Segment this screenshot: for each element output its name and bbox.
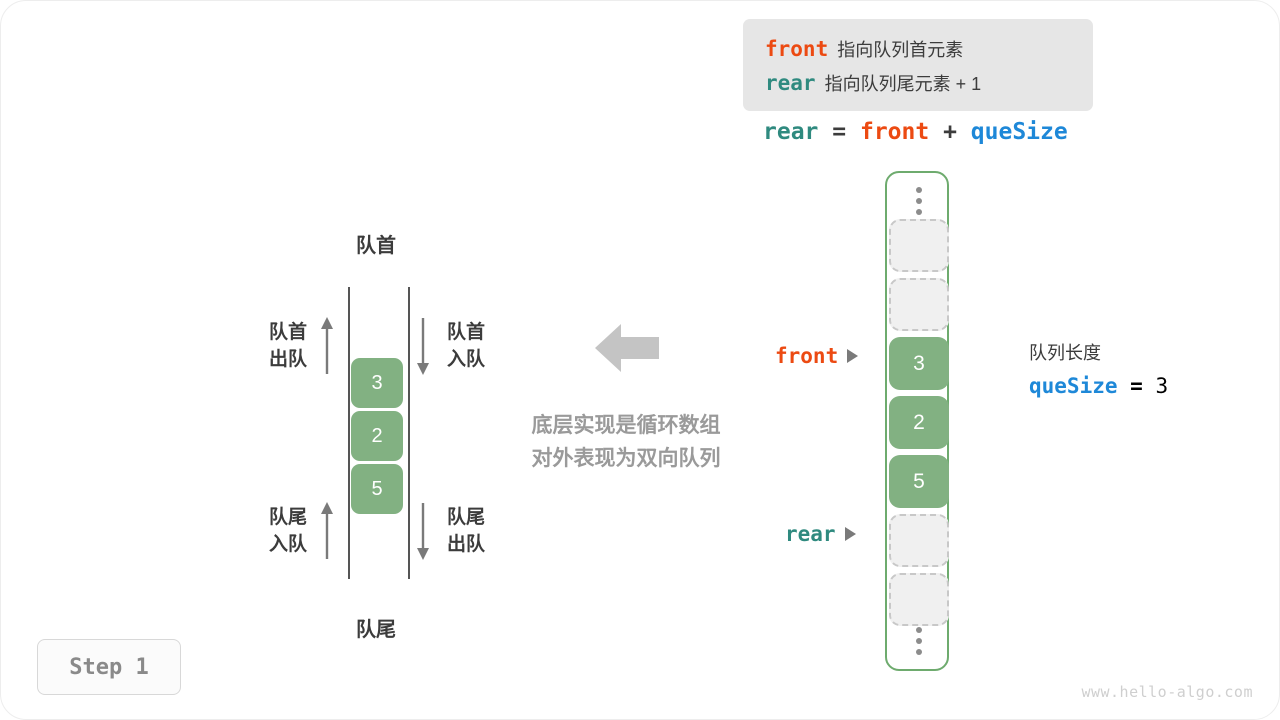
array-slot-2[interactable]: 3 bbox=[889, 337, 949, 390]
array-slot-3-value: 2 bbox=[913, 411, 925, 435]
pointer-rear-label: rear bbox=[785, 522, 836, 546]
diagram-canvas: front指向队列首元素 rear指向队列尾元素 + 1 rear = fron… bbox=[0, 0, 1280, 720]
legend-keyword-rear: rear bbox=[765, 71, 816, 95]
step-badge: Step 1 bbox=[37, 639, 181, 695]
deque-tail-label: 队尾 bbox=[316, 613, 436, 642]
legend-text-front: 指向队列首元素 bbox=[837, 40, 963, 60]
legend-line-rear: rear指向队列尾元素 + 1 bbox=[765, 66, 1093, 100]
legend-keyword-front: front bbox=[765, 37, 828, 61]
op-label-head-dequeue: 队首 出队 bbox=[227, 319, 307, 373]
op-label-head-dequeue-line2: 出队 bbox=[227, 346, 307, 373]
deque-cell-0[interactable]: 3 bbox=[351, 358, 403, 408]
arrow-up-tail-enqueue-icon bbox=[319, 502, 335, 560]
pointer-front: front bbox=[775, 344, 858, 368]
deque-rail-left bbox=[348, 287, 350, 579]
quesize-note: 队列长度 queSize = 3 bbox=[1029, 339, 1168, 402]
quesize-note-equals: = bbox=[1130, 374, 1143, 398]
deque-cell-0-value: 3 bbox=[371, 372, 382, 395]
center-caption-line1: 底层实现是循环数组 bbox=[503, 409, 749, 442]
left-arrow-icon bbox=[595, 323, 659, 373]
formula-term-quesize: queSize bbox=[971, 119, 1068, 145]
op-label-head-enqueue-line1: 队首 bbox=[447, 319, 485, 346]
array-slot-5[interactable] bbox=[889, 514, 949, 567]
arrow-down-head-enqueue-icon bbox=[415, 317, 431, 375]
deque-cell-2-value: 5 bbox=[371, 478, 382, 501]
array-slot-6[interactable] bbox=[889, 573, 949, 626]
op-label-head-dequeue-line1: 队首 bbox=[227, 319, 307, 346]
legend-text-rear: 指向队列尾元素 + 1 bbox=[825, 74, 982, 94]
quesize-note-var: queSize bbox=[1029, 374, 1118, 398]
ellipsis-top-icon bbox=[887, 187, 951, 215]
center-caption: 底层实现是循环数组 对外表现为双向队列 bbox=[503, 409, 749, 475]
array-slot-1[interactable] bbox=[889, 278, 949, 331]
quesize-note-expression: queSize = 3 bbox=[1029, 370, 1168, 402]
deque-cell-1[interactable]: 2 bbox=[351, 411, 403, 461]
pointer-rear: rear bbox=[785, 522, 856, 546]
formula-rear-equals: rear = front + queSize bbox=[763, 119, 1068, 145]
quesize-note-label: 队列长度 bbox=[1029, 339, 1168, 367]
op-label-tail-enqueue-line1: 队尾 bbox=[227, 504, 307, 531]
deque-cell-1-value: 2 bbox=[371, 425, 382, 448]
deque-rail-right bbox=[408, 287, 410, 579]
op-label-head-enqueue: 队首 入队 bbox=[447, 319, 485, 373]
op-label-tail-enqueue: 队尾 入队 bbox=[227, 504, 307, 558]
arrow-down-tail-dequeue-icon bbox=[415, 502, 431, 560]
op-label-tail-dequeue-line2: 出队 bbox=[447, 531, 485, 558]
op-label-head-enqueue-line2: 入队 bbox=[447, 346, 485, 373]
formula-operator-plus: + bbox=[943, 119, 957, 145]
deque-head-label: 队首 bbox=[316, 229, 436, 258]
legend-line-front: front指向队列首元素 bbox=[765, 32, 1093, 66]
pointer-rear-arrow-icon bbox=[845, 527, 856, 541]
pointer-front-label: front bbox=[775, 344, 838, 368]
array-slot-4-value: 5 bbox=[913, 470, 925, 494]
ellipsis-bottom-icon bbox=[887, 627, 951, 655]
legend-box: front指向队列首元素 rear指向队列尾元素 + 1 bbox=[743, 19, 1093, 111]
quesize-note-value: 3 bbox=[1155, 374, 1168, 398]
formula-term-front: front bbox=[860, 119, 929, 145]
center-caption-line2: 对外表现为双向队列 bbox=[503, 442, 749, 475]
pointer-front-arrow-icon bbox=[847, 349, 858, 363]
arrow-up-head-dequeue-icon bbox=[319, 317, 335, 375]
op-label-tail-enqueue-line2: 入队 bbox=[227, 531, 307, 558]
array-slot-2-value: 3 bbox=[913, 352, 925, 376]
op-label-tail-dequeue: 队尾 出队 bbox=[447, 504, 485, 558]
array-slot-3[interactable]: 2 bbox=[889, 396, 949, 449]
array-slot-0[interactable] bbox=[889, 219, 949, 272]
circular-array-frame: 3 2 5 bbox=[885, 171, 949, 671]
deque-cell-2[interactable]: 5 bbox=[351, 464, 403, 514]
formula-operator-equals: = bbox=[832, 119, 846, 145]
watermark: www.hello-algo.com bbox=[1081, 683, 1253, 701]
op-label-tail-dequeue-line1: 队尾 bbox=[447, 504, 485, 531]
array-slot-4[interactable]: 5 bbox=[889, 455, 949, 508]
formula-term-rear: rear bbox=[763, 119, 818, 145]
